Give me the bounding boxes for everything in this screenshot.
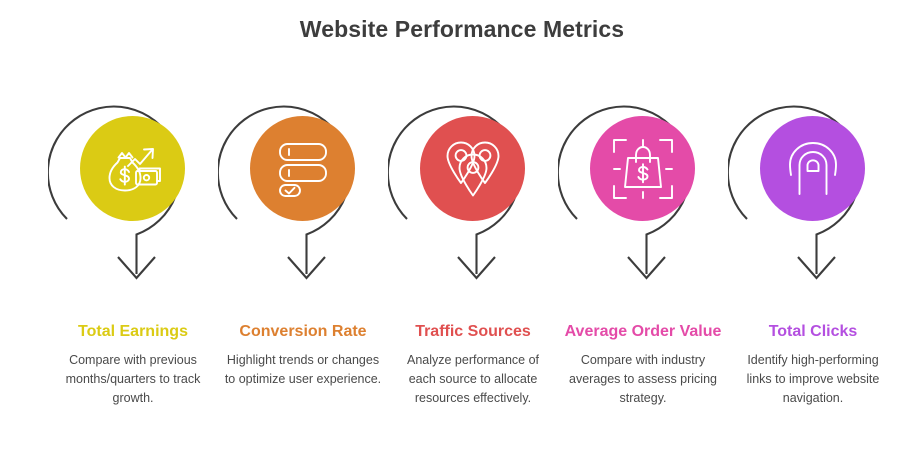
metric-card-traffic-sources[interactable]: Traffic Sources Analyze performance of e… (388, 84, 558, 463)
metric-node (218, 84, 388, 300)
metric-card-conversion-rate[interactable]: Conversion Rate Highlight trends or chan… (218, 84, 388, 463)
metric-disc (760, 116, 865, 221)
metric-description: Analyze performance of each source to al… (388, 351, 558, 407)
metric-heading: Conversion Rate (218, 322, 388, 342)
metric-disc (250, 116, 355, 221)
metric-disc (80, 116, 185, 221)
metric-heading: Traffic Sources (388, 322, 558, 342)
metric-node (728, 84, 898, 300)
shopping-bag-scan-icon (590, 116, 695, 221)
metric-node (48, 84, 218, 300)
metric-card-total-clicks[interactable]: Total Clicks Identify high-performing li… (728, 84, 898, 463)
metric-node (388, 84, 558, 300)
metric-disc (420, 116, 525, 221)
metrics-row: Total Earnings Compare with previous mon… (0, 84, 924, 463)
map-pins-icon (420, 116, 525, 221)
metric-text: Total Earnings Compare with previous mon… (48, 322, 218, 408)
money-bag-growth-icon (80, 116, 185, 221)
form-checklist-icon (250, 116, 355, 221)
metric-text: Conversion Rate Highlight trends or chan… (218, 322, 388, 389)
metric-text: Traffic Sources Analyze performance of e… (388, 322, 558, 408)
metric-description: Highlight trends or changes to optimize … (218, 351, 388, 389)
metric-disc (590, 116, 695, 221)
metric-node (558, 84, 728, 300)
metric-description: Identify high-performing links to improv… (728, 351, 898, 407)
metric-card-average-order-value[interactable]: Average Order Value Compare with industr… (558, 84, 728, 463)
metric-text: Average Order Value Compare with industr… (558, 322, 728, 408)
metric-heading: Average Order Value (558, 322, 728, 342)
fingerprint-tap-icon (760, 116, 865, 221)
page-title: Website Performance Metrics (0, 16, 924, 43)
metric-description: Compare with previous months/quarters to… (48, 351, 218, 407)
metric-heading: Total Clicks (728, 322, 898, 342)
metric-description: Compare with industry averages to assess… (558, 351, 728, 407)
metric-card-total-earnings[interactable]: Total Earnings Compare with previous mon… (48, 84, 218, 463)
metric-heading: Total Earnings (48, 322, 218, 342)
metric-text: Total Clicks Identify high-performing li… (728, 322, 898, 408)
